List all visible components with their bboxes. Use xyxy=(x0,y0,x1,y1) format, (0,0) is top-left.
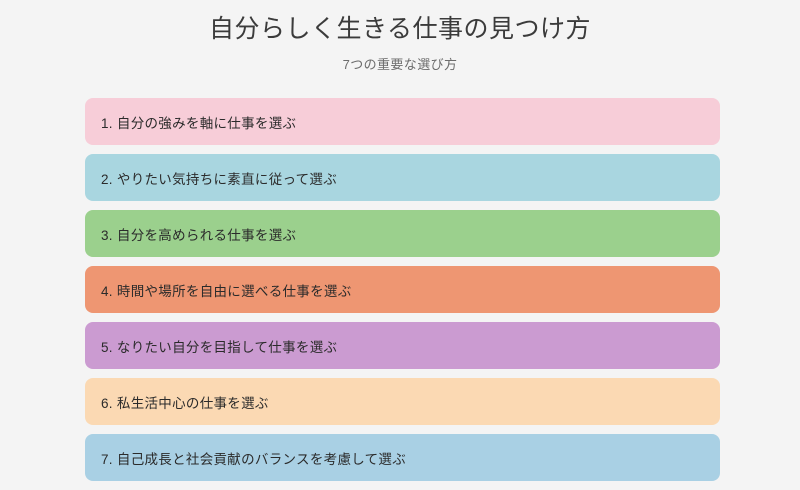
list-item-label: 6. 私生活中心の仕事を選ぶ xyxy=(101,392,269,412)
page-title: 自分らしく生きる仕事の見つけ方 xyxy=(0,14,800,45)
infographic-page: 自分らしく生きる仕事の見つけ方 7つの重要な選び方 1. 自分の強みを軸に仕事を… xyxy=(0,0,800,480)
item-list: 1. 自分の強みを軸に仕事を選ぶ 2. やりたい気持ちに素直に従って選ぶ 3. … xyxy=(85,98,720,490)
list-item: 1. 自分の強みを軸に仕事を選ぶ xyxy=(85,98,720,145)
list-item-label: 2. やりたい気持ちに素直に従って選ぶ xyxy=(101,168,337,188)
list-item: 6. 私生活中心の仕事を選ぶ xyxy=(85,378,720,425)
page-subtitle: 7つの重要な選び方 xyxy=(0,54,800,73)
list-item-label: 5. なりたい自分を目指して仕事を選ぶ xyxy=(101,336,337,356)
list-item-label: 7. 自己成長と社会貢献のバランスを考慮して選ぶ xyxy=(101,448,406,468)
list-item: 2. やりたい気持ちに素直に従って選ぶ xyxy=(85,154,720,201)
list-item: 5. なりたい自分を目指して仕事を選ぶ xyxy=(85,322,720,369)
list-item: 7. 自己成長と社会貢献のバランスを考慮して選ぶ xyxy=(85,434,720,481)
list-item-label: 3. 自分を高められる仕事を選ぶ xyxy=(101,224,296,244)
list-item-label: 4. 時間や場所を自由に選べる仕事を選ぶ xyxy=(101,280,352,300)
page-header: 自分らしく生きる仕事の見つけ方 7つの重要な選び方 xyxy=(0,0,800,73)
list-item-label: 1. 自分の強みを軸に仕事を選ぶ xyxy=(101,112,296,132)
list-item: 3. 自分を高められる仕事を選ぶ xyxy=(85,210,720,257)
list-item: 4. 時間や場所を自由に選べる仕事を選ぶ xyxy=(85,266,720,313)
